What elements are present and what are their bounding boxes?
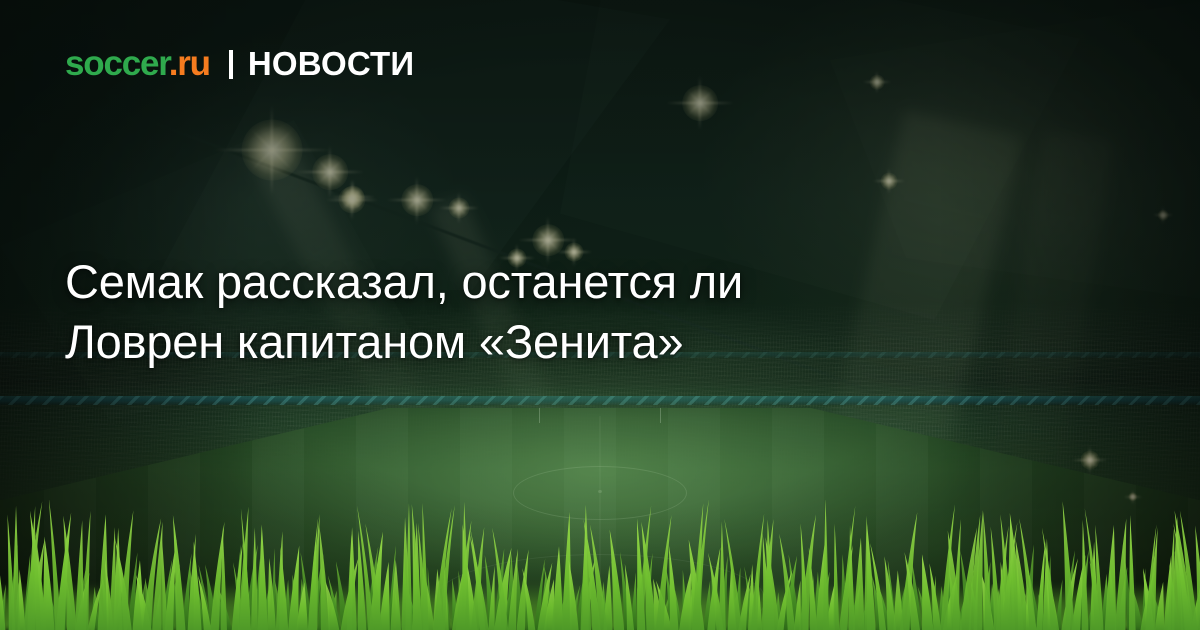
grass-blade	[109, 527, 116, 630]
grass-blade	[679, 570, 691, 630]
grass-blade	[853, 538, 864, 630]
news-share-card: soccer.ru НОВОСТИ Семак рассказал, остан…	[0, 0, 1200, 630]
grass-blade	[1082, 520, 1089, 630]
grass-blade	[751, 514, 764, 630]
logo-name-text: soccer	[65, 44, 169, 83]
grass-blade	[75, 520, 84, 630]
foreground-grass	[0, 500, 1200, 630]
grass-blade	[1129, 515, 1136, 630]
grass-blade	[719, 521, 726, 630]
site-logo[interactable]: soccer.ru	[65, 46, 210, 81]
article-headline: Семак рассказал, останется ли Ловрен кап…	[65, 252, 1025, 372]
grass-blade	[1115, 518, 1126, 630]
grass-blade	[161, 533, 167, 630]
section-label: НОВОСТИ	[248, 47, 414, 80]
grass-blade	[288, 546, 299, 630]
grass-blade	[276, 531, 284, 630]
grass-blades	[0, 500, 1200, 630]
site-header: soccer.ru НОВОСТИ	[65, 46, 414, 81]
logo-tld-text: .ru	[169, 44, 210, 83]
grass-blade	[422, 503, 428, 630]
grass-blade	[347, 534, 352, 630]
headline-line-2: Ловрен капитаном «Зенита»	[65, 312, 1025, 372]
grass-blade	[12, 506, 20, 630]
headline-line-1: Семак рассказал, останется ли	[65, 252, 1025, 312]
header-divider	[229, 50, 233, 79]
grass-blade	[834, 524, 840, 630]
grass-blade	[669, 546, 679, 630]
grass-blade	[581, 521, 589, 630]
